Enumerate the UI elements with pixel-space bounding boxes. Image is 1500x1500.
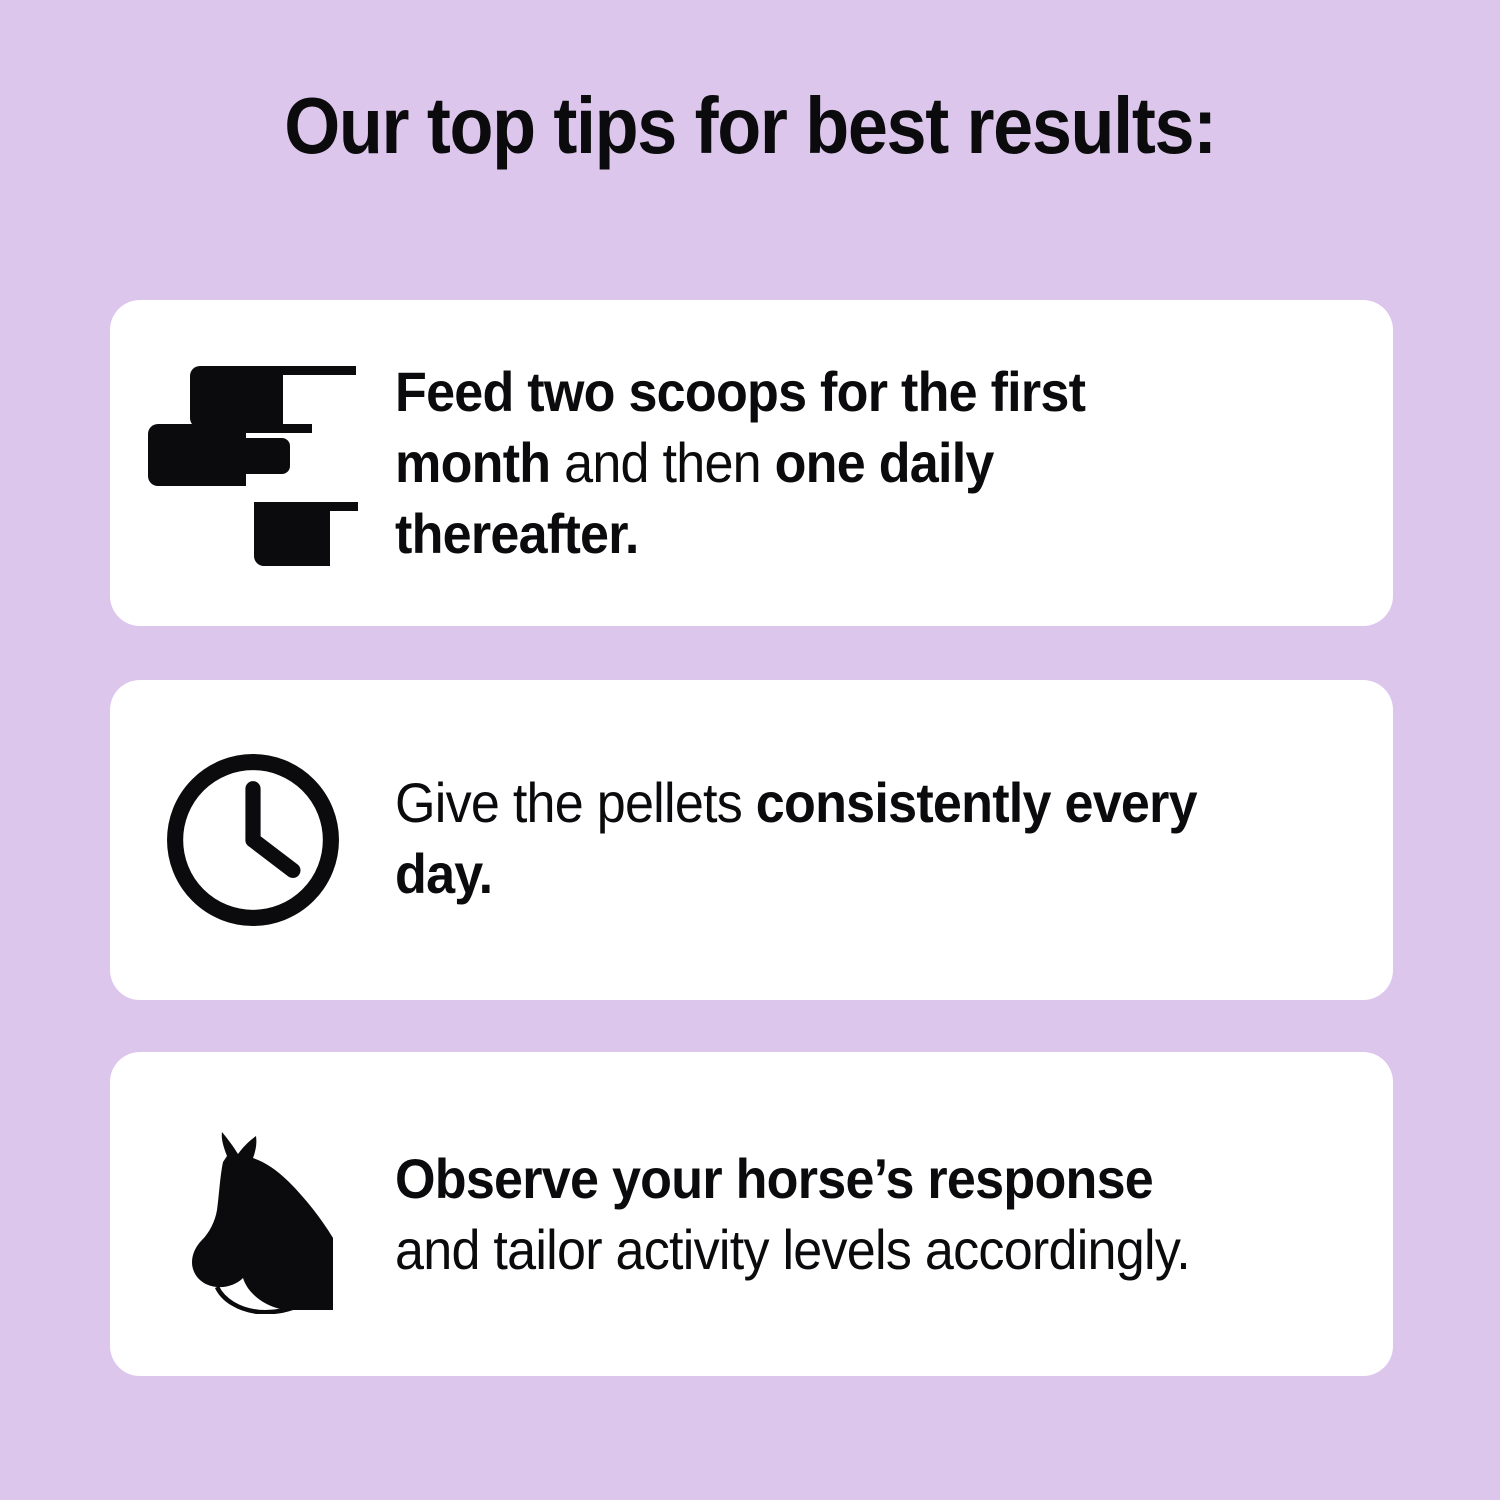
clock-icon: [110, 680, 395, 1000]
two-scoops-icon-glyph: [148, 356, 358, 571]
tip-text: Feed two scoops for the first month and …: [395, 356, 1213, 569]
horse-head-icon-glyph: [153, 1114, 353, 1314]
tip-text: Observe your horse’s response and tailor…: [395, 1143, 1213, 1285]
list-item: Give the pellets consistently every day.: [110, 680, 1393, 1000]
tips-infographic: Our top tips for best results: Feed t: [0, 0, 1500, 1500]
list-item: Feed two scoops for the first month and …: [110, 300, 1393, 626]
clock-icon-glyph: [158, 745, 348, 935]
tip-text: Give the pellets consistently every day.: [395, 767, 1213, 909]
page-title: Our top tips for best results:: [75, 78, 1425, 174]
horse-head-icon: [110, 1052, 395, 1376]
list-item: Observe your horse’s response and tailor…: [110, 1052, 1393, 1376]
tips-list: Feed two scoops for the first month and …: [110, 300, 1393, 1376]
two-scoops-icon: [110, 300, 395, 626]
